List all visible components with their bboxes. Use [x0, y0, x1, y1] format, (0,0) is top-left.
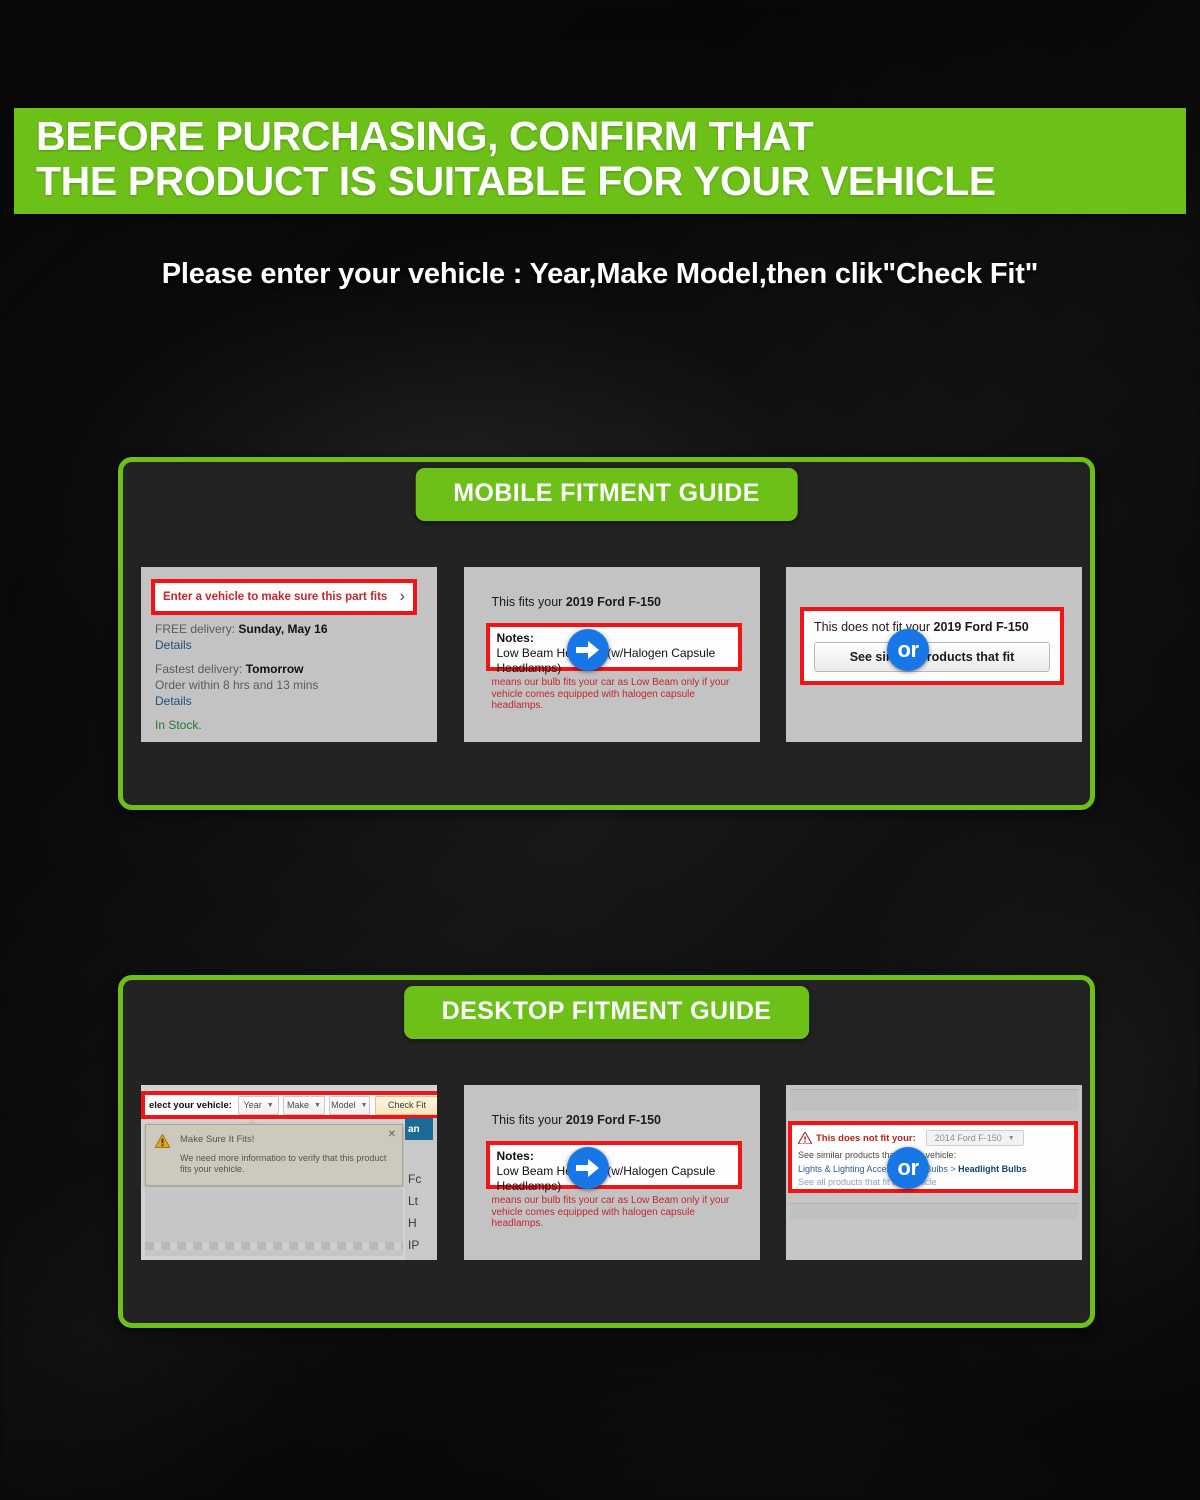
- see-all-link[interactable]: See all products that fit this vehicle: [798, 1177, 1068, 1187]
- desktop-step2-screenshot: This fits your 2019 Ford F-150 Notes: Lo…: [464, 1085, 760, 1260]
- order-within-text: Order within 8 hrs and 13 mins: [155, 677, 415, 693]
- fits-prefix: This fits your: [492, 1113, 566, 1127]
- see-similar-products-button[interactable]: See similar products that fit: [814, 642, 1050, 672]
- does-not-fit-highlight: This does not fit your 2019 Ford F-150 S…: [800, 607, 1064, 685]
- or-label: or: [898, 1157, 919, 1179]
- see-similar-label: See similar products that fit this vehic…: [798, 1150, 1068, 1160]
- tooltip-title: Make Sure It Fits!: [180, 1134, 254, 1145]
- notes-highlight: Notes: Low Beam Headlight(w/Halogen Caps…: [486, 623, 742, 671]
- chevron-down-icon: ▼: [267, 1102, 274, 1109]
- page-strip-top: [790, 1089, 1078, 1111]
- side-fragment-4: IP: [408, 1238, 419, 1252]
- select-vehicle-label: elect your vehicle:: [149, 1100, 236, 1111]
- check-fit-button[interactable]: Check Fit: [375, 1096, 437, 1115]
- fits-vehicle-line: This fits your 2019 Ford F-150: [492, 1113, 662, 1127]
- details-link-2[interactable]: Details: [155, 693, 415, 709]
- notes-label: Notes:: [497, 1149, 731, 1164]
- vehicle-selector-highlight: elect your vehicle: Year ▼ Make ▼ Model …: [141, 1091, 437, 1119]
- warning-triangle-icon: [155, 1134, 170, 1148]
- notes-value: Low Beam Headlight(w/Halogen Capsule Hea…: [497, 646, 731, 676]
- side-fragment-3: H: [408, 1216, 417, 1230]
- details-link-1[interactable]: Details: [155, 637, 415, 653]
- desktop-steps: elect your vehicle: Year ▼ Make ▼ Model …: [141, 1085, 1082, 1260]
- year-dropdown[interactable]: Year ▼: [238, 1096, 279, 1115]
- make-dropdown[interactable]: Make ▼: [283, 1096, 324, 1115]
- desktop-step3-screenshot: This does not fit your: 2014 Ford F-150 …: [786, 1085, 1082, 1260]
- fastest-delivery-label: Fastest delivery:: [155, 662, 242, 676]
- category-breadcrumb[interactable]: Lights & Lighting Accessories > Bulbs > …: [798, 1164, 1068, 1174]
- warning-triangle-icon: [798, 1132, 812, 1144]
- does-not-fit-highlight: This does not fit your: 2014 Ford F-150 …: [788, 1121, 1078, 1193]
- close-icon[interactable]: ✕: [388, 1129, 396, 1140]
- desktop-guide-title: DESKTOP FITMENT GUIDE: [404, 986, 810, 1039]
- arrow-right-badge: [567, 629, 609, 671]
- does-not-fit-row: This does not fit your: 2014 Ford F-150 …: [798, 1130, 1068, 1146]
- spacer: [155, 653, 415, 661]
- does-not-fit-line: This does not fit your 2019 Ford F-150: [814, 620, 1050, 634]
- headline-line-1: BEFORE PURCHASING, CONFIRM THAT: [36, 114, 1186, 159]
- page-content-placeholder: [145, 1189, 403, 1256]
- not-fit-vehicle: 2019 Ford F-150: [934, 620, 1029, 634]
- mobile-steps: Enter a vehicle to make sure this part f…: [141, 567, 1082, 742]
- mobile-step1-screenshot: Enter a vehicle to make sure this part f…: [141, 567, 437, 742]
- desktop-fitment-guide: DESKTOP FITMENT GUIDE elect your vehicle…: [118, 975, 1095, 1328]
- year-dropdown-label: Year: [244, 1100, 262, 1110]
- notes-explanation: means our bulb fits your car as Low Beam…: [492, 677, 742, 712]
- side-tag: an: [405, 1118, 433, 1140]
- chevron-down-icon: ▼: [361, 1102, 368, 1109]
- breadcrumb-bold: Headlight Bulbs: [958, 1164, 1027, 1174]
- mobile-step3-screenshot: This does not fit your 2019 Ford F-150 S…: [786, 567, 1082, 742]
- model-dropdown-label: Model: [331, 1100, 356, 1110]
- make-dropdown-label: Make: [287, 1100, 309, 1110]
- desktop-step1-screenshot: elect your vehicle: Year ▼ Make ▼ Model …: [141, 1085, 437, 1260]
- mobile-step2-screenshot: This fits your 2019 Ford F-150 Notes: Lo…: [464, 567, 760, 742]
- fits-vehicle: 2019 Ford F-150: [566, 595, 661, 609]
- make-sure-it-fits-tooltip: Make Sure It Fits! We need more informat…: [145, 1124, 403, 1186]
- tooltip-body: We need more information to verify that …: [180, 1153, 392, 1175]
- fastest-delivery-value: Tomorrow: [246, 662, 304, 676]
- page-side-fragments: an Fc Lt H IP: [405, 1118, 437, 1260]
- free-delivery-label: FREE delivery:: [155, 622, 235, 636]
- scroll-strip: [145, 1242, 403, 1250]
- page-strip-bottom: [790, 1203, 1078, 1219]
- free-delivery-value: Sunday, May 16: [238, 622, 327, 636]
- does-not-fit-label: This does not fit your:: [816, 1133, 916, 1144]
- notes-highlight: Notes: Low Beam Headlight(w/Halogen Caps…: [486, 1141, 742, 1189]
- free-delivery-row: FREE delivery: Sunday, May 16: [155, 621, 415, 637]
- enter-vehicle-prompt[interactable]: Enter a vehicle to make sure this part f…: [151, 579, 417, 615]
- fastest-delivery-row: Fastest delivery: Tomorrow: [155, 661, 415, 677]
- mobile-fitment-guide: MOBILE FITMENT GUIDE Enter a vehicle to …: [118, 457, 1095, 810]
- fits-prefix: This fits your: [492, 595, 566, 609]
- headline-line-2: THE PRODUCT IS SUITABLE FOR YOUR VEHICLE: [36, 159, 1186, 204]
- headline-banner: BEFORE PURCHASING, CONFIRM THAT THE PROD…: [14, 108, 1186, 214]
- arrow-right-icon: [576, 1158, 600, 1178]
- vehicle-dropdown[interactable]: 2014 Ford F-150 ▼: [926, 1130, 1024, 1146]
- arrow-right-icon: [576, 640, 600, 660]
- delivery-info: FREE delivery: Sunday, May 16 Details Fa…: [155, 621, 415, 733]
- enter-vehicle-label: Enter a vehicle to make sure this part f…: [163, 591, 396, 604]
- vehicle-selector-bar: elect your vehicle: Year ▼ Make ▼ Model …: [145, 1095, 437, 1115]
- or-badge: or: [887, 629, 929, 671]
- notes-label: Notes:: [497, 631, 731, 646]
- fits-vehicle: 2019 Ford F-150: [566, 1113, 661, 1127]
- notes-value: Low Beam Headlight(w/Halogen Capsule Hea…: [497, 1164, 731, 1194]
- vehicle-dropdown-label: 2014 Ford F-150: [935, 1133, 1002, 1143]
- page-root: BEFORE PURCHASING, CONFIRM THAT THE PROD…: [0, 0, 1200, 1500]
- side-fragment-1: Fc: [408, 1172, 421, 1186]
- chevron-down-icon: ▼: [314, 1102, 321, 1109]
- model-dropdown[interactable]: Model ▼: [329, 1096, 370, 1115]
- chevron-down-icon: ▼: [1008, 1135, 1015, 1142]
- side-fragment-2: Lt: [408, 1194, 418, 1208]
- chevron-right-icon: ›: [396, 588, 405, 606]
- mobile-guide-title: MOBILE FITMENT GUIDE: [415, 468, 798, 521]
- spacer: [155, 709, 415, 717]
- notes-explanation: means our bulb fits your car as Low Beam…: [492, 1195, 742, 1230]
- or-label: or: [898, 639, 919, 661]
- stock-status: In Stock.: [155, 717, 415, 733]
- or-badge: or: [887, 1147, 929, 1189]
- fits-vehicle-line: This fits your 2019 Ford F-150: [492, 595, 662, 609]
- instruction-subtitle: Please enter your vehicle : Year,Make Mo…: [0, 258, 1200, 291]
- arrow-right-badge: [567, 1147, 609, 1189]
- breadcrumb-plain: Lights & Lighting Accessories > Bulbs >: [798, 1164, 958, 1174]
